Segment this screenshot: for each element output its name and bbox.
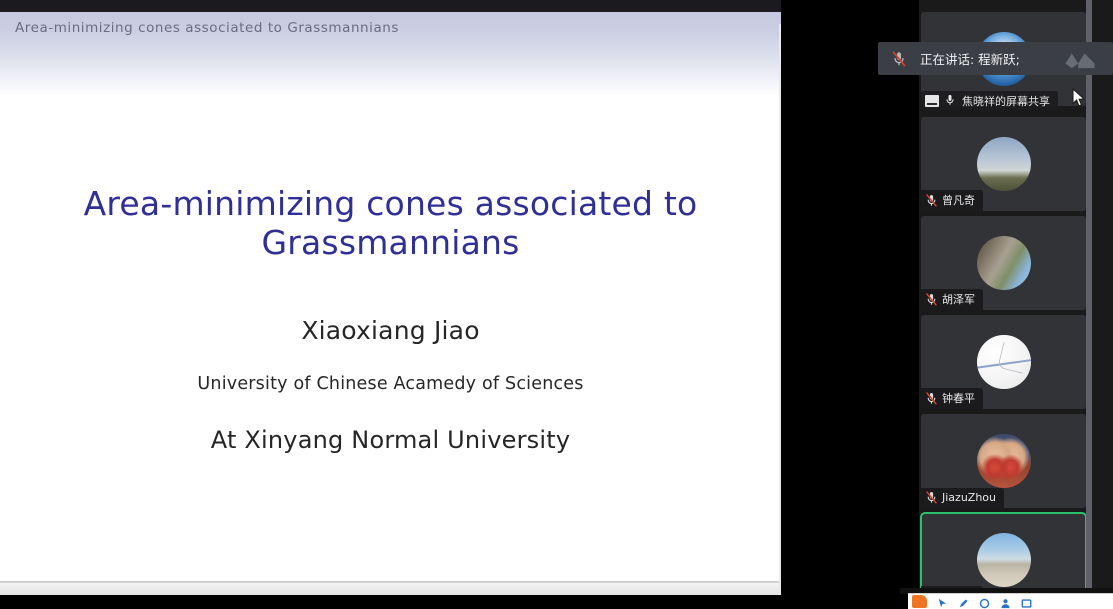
slide-title-line-1: Area-minimizing cones associated to	[0, 184, 781, 223]
annotate-icon[interactable]	[1021, 596, 1032, 607]
mic-icon	[944, 93, 957, 108]
speaking-banner-text: 正在讲话: 程新跃;	[920, 49, 1020, 68]
mic-muted-icon	[925, 292, 938, 307]
cursor-icon[interactable]	[937, 596, 948, 607]
tile-nameplate: JiazuZhou	[921, 488, 1004, 508]
shared-screen-top-band	[0, 0, 781, 12]
participant-tile[interactable]: 钟春平	[921, 315, 1086, 409]
wps-logo-icon[interactable]	[912, 595, 927, 608]
pen-icon[interactable]	[958, 596, 969, 607]
participant-name: 胡泽军	[942, 291, 975, 307]
screen-root: Area-minimizing cones associated to Gras…	[0, 0, 1113, 608]
avatar	[977, 533, 1031, 587]
slide-author: Xiaoxiang Jiao	[0, 316, 781, 345]
slide-affiliation: University of Chinese Acamedy of Science…	[0, 374, 781, 394]
participant-tile[interactable]: 胡泽军	[921, 216, 1086, 310]
avatar	[977, 434, 1031, 488]
avatar	[977, 236, 1031, 290]
filmstrip-scrollbar[interactable]	[1086, 0, 1092, 608]
avatar	[977, 137, 1031, 191]
participant-tile[interactable]: 曾凡奇	[921, 117, 1086, 211]
person-icon[interactable]	[1000, 596, 1011, 607]
tile-nameplate: 胡泽军	[921, 289, 983, 310]
shape-icon[interactable]	[979, 596, 990, 607]
tile-nameplate: 曾凡奇	[921, 190, 983, 211]
slide-footer-band	[0, 582, 781, 595]
annotation-toolbar[interactable]	[908, 593, 1113, 609]
mic-muted-icon	[925, 193, 938, 208]
screen-share-source-pill: 焦晓祥的屏幕共享	[921, 91, 1058, 110]
screen-share-icon	[925, 95, 939, 107]
participant-tile[interactable]: JiazuZhou	[921, 414, 1086, 508]
slide-running-header: Area-minimizing cones associated to Gras…	[15, 20, 399, 36]
tile-nameplate: 钟春平	[921, 388, 983, 409]
avatar	[977, 335, 1031, 389]
participant-name: JiazuZhou	[942, 491, 996, 504]
participant-name: 钟春平	[942, 390, 975, 406]
filmstrip-left-edge	[913, 0, 919, 608]
shared-screen-region[interactable]: Area-minimizing cones associated to Gras…	[0, 0, 781, 608]
share-source-text: 焦晓祥的屏幕共享	[962, 93, 1050, 109]
slide-header-band: Area-minimizing cones associated to Gras…	[0, 12, 781, 96]
meeting-logo-icon	[1061, 49, 1099, 69]
mic-muted-icon	[925, 391, 938, 406]
speaking-banner: 正在讲话: 程新跃;	[878, 42, 1113, 75]
mic-muted-icon	[925, 490, 938, 505]
participant-name: 曾凡奇	[942, 192, 975, 208]
slide-title: Area-minimizing cones associated to Gras…	[0, 184, 781, 262]
presentation-slide[interactable]: Area-minimizing cones associated to Gras…	[0, 12, 781, 595]
mic-muted-icon	[886, 50, 912, 68]
slide-title-line-2: Grassmannians	[0, 223, 781, 262]
slide-venue: At Xinyang Normal University	[0, 426, 781, 454]
slide-body: Area-minimizing cones associated to Gras…	[0, 96, 781, 595]
